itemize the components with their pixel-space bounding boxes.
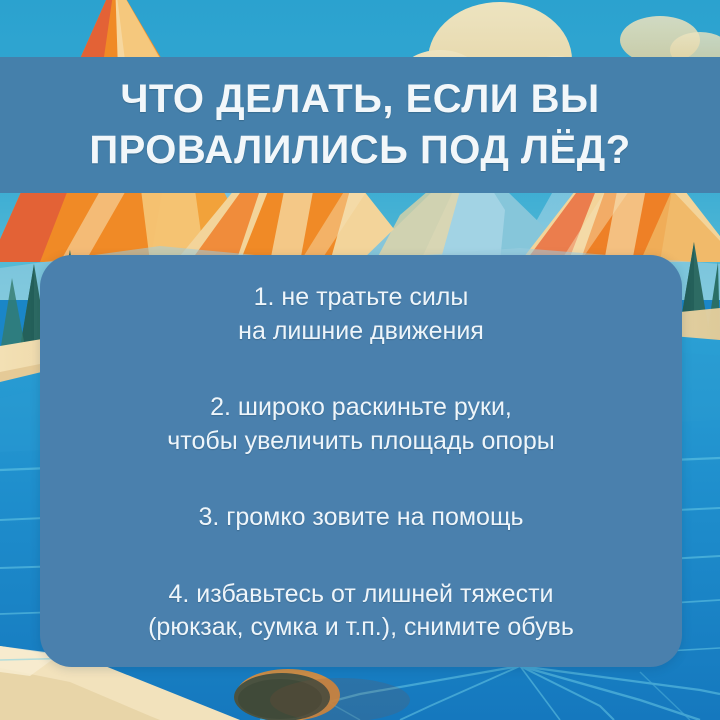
page-title-line-2: ПРОВАЛИЛИСЬ ПОД ЛЁД? [89, 125, 630, 176]
tip-1-line-2: на лишние движения [58, 315, 664, 349]
tip-4-line-2: (рюкзак, сумка и т.п.), снимите обувь [58, 611, 664, 645]
page-title-line-1: ЧТО ДЕЛАТЬ, ЕСЛИ ВЫ [120, 74, 599, 125]
tip-item-3: 3. громко зовите на помощь [58, 501, 664, 535]
ice-reflection [270, 678, 410, 720]
tip-3-line-1: 3. громко зовите на помощь [58, 501, 664, 535]
poster: ЧТО ДЕЛАТЬ, ЕСЛИ ВЫ ПРОВАЛИЛИСЬ ПОД ЛЁД?… [0, 0, 720, 720]
tip-item-2: 2. широко раскиньте руки, чтобы увеличит… [58, 391, 664, 458]
tip-item-4: 4. избавьтесь от лишней тяжести (рюкзак,… [58, 578, 664, 645]
tip-4-line-1: 4. избавьтесь от лишней тяжести [58, 578, 664, 612]
tip-2-line-2: чтобы увеличить площадь опоры [58, 425, 664, 459]
tip-1-line-1: 1. не тратьте силы [58, 281, 664, 315]
title-banner: ЧТО ДЕЛАТЬ, ЕСЛИ ВЫ ПРОВАЛИЛИСЬ ПОД ЛЁД? [0, 57, 720, 193]
tips-card: 1. не тратьте силы на лишние движения 2.… [40, 255, 682, 667]
tip-2-line-1: 2. широко раскиньте руки, [58, 391, 664, 425]
tip-item-1: 1. не тратьте силы на лишние движения [58, 281, 664, 348]
